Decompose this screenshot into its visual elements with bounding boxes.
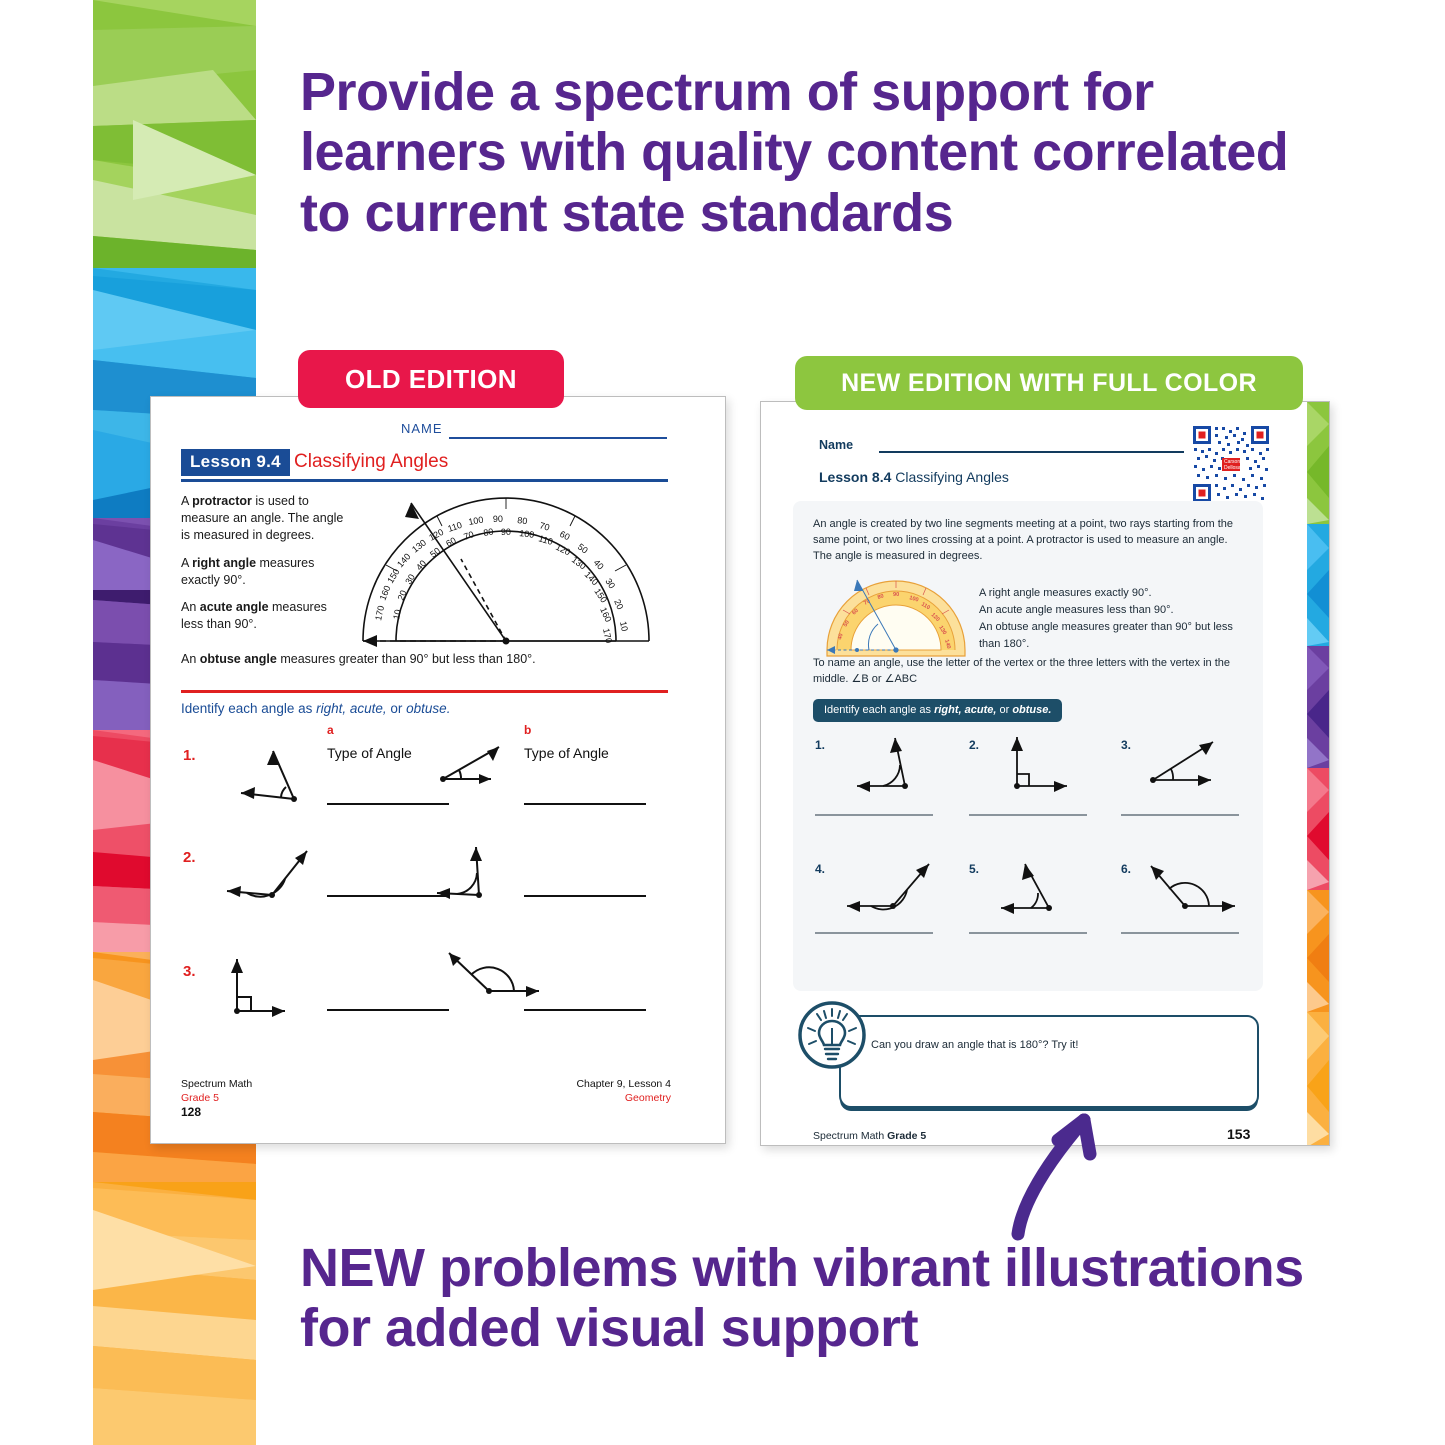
- new-rules-list: A right angle measures exactly 90°. An a…: [979, 585, 1249, 653]
- new-lesson-heading: Lesson 8.4 Classifying Angles: [819, 469, 1009, 485]
- headline-top: Provide a spectrum of support for learne…: [300, 62, 1300, 243]
- svg-text:150: 150: [385, 567, 401, 585]
- svg-text:170: 170: [373, 605, 386, 622]
- new-problem-number-2: 2.: [969, 738, 979, 752]
- new-lesson-title: Classifying Angles: [895, 469, 1009, 485]
- new-angle-figure-5: [993, 854, 1103, 926]
- old-body-p1: A protractor is used to measure an angle…: [181, 493, 347, 544]
- old-instruction: Identify each angle as right, acute, or …: [181, 701, 450, 716]
- old-angle-figure-2b: [429, 839, 519, 911]
- old-body-p3: An acute angle measures less than 90°.: [181, 599, 347, 633]
- headline-bottom: NEW problems with vibrant illustrations …: [300, 1238, 1310, 1359]
- svg-text:30: 30: [603, 577, 617, 591]
- old-answer-line-2b[interactable]: [524, 895, 646, 897]
- old-problem-number-2: 2.: [183, 849, 196, 866]
- old-answer-line-3a[interactable]: [327, 1009, 449, 1011]
- svg-text:100: 100: [468, 515, 485, 527]
- new-problem-number-6: 6.: [1121, 862, 1131, 876]
- svg-text:80: 80: [483, 526, 495, 538]
- new-answer-line-4[interactable]: [815, 932, 933, 934]
- old-answer-line-3b[interactable]: [524, 1009, 646, 1011]
- svg-text:70: 70: [538, 520, 550, 532]
- svg-text:100: 100: [519, 528, 535, 540]
- new-instruction-banner: Identify each angle as right, acute, or …: [813, 699, 1062, 722]
- new-edge-graphic: [1307, 402, 1329, 1145]
- new-answer-line-1[interactable]: [815, 814, 933, 816]
- old-angle-figure-2a: [219, 841, 319, 911]
- svg-text:40: 40: [414, 558, 428, 572]
- qr-code-icon[interactable]: CarsonDellosa: [1191, 424, 1271, 504]
- new-protractor-illustration: 90 80 100 70 110 60 120 50 130 40 140: [821, 572, 971, 660]
- new-name-label: Name: [819, 438, 853, 452]
- old-protractor-illustration: 170 160 150 140 130 120 110 100 90 80 70…: [341, 489, 671, 674]
- svg-text:20: 20: [396, 589, 409, 602]
- old-answer-line-1b[interactable]: [524, 803, 646, 805]
- svg-text:10: 10: [391, 609, 403, 621]
- new-edition-worksheet: Name Lesson 8.4 Classifying Angles: [760, 401, 1330, 1146]
- svg-text:60: 60: [444, 535, 458, 549]
- svg-text:130: 130: [410, 537, 428, 554]
- svg-text:60: 60: [558, 529, 571, 542]
- new-problem-number-3: 3.: [1121, 738, 1131, 752]
- old-problem-number-3: 3.: [183, 963, 196, 980]
- old-lesson-tag: Lesson 9.4: [181, 449, 290, 476]
- new-problem-number-5: 5.: [969, 862, 979, 876]
- new-page-color-edge: [1307, 402, 1329, 1145]
- badge-new-edition: NEW EDITION WITH FULL COLOR: [795, 356, 1303, 410]
- old-angle-figure-3a: [219, 949, 309, 1029]
- old-angle-figure-3b: [441, 945, 551, 1015]
- old-header-rule: [181, 479, 668, 482]
- old-column-a-label: a: [327, 723, 334, 737]
- old-page-number: 128: [181, 1105, 201, 1119]
- new-answer-line-2[interactable]: [969, 814, 1087, 816]
- old-answer-line-1a[interactable]: [327, 803, 449, 805]
- old-name-label: NAME: [401, 421, 443, 436]
- new-angle-figure-3: [1141, 732, 1241, 802]
- old-type-of-angle-1b: Type of Angle: [524, 745, 609, 761]
- new-naming-text: To name an angle, use the letter of the …: [813, 656, 1245, 688]
- svg-text:90: 90: [893, 592, 899, 598]
- new-rule-right: A right angle measures exactly 90°.: [979, 585, 1249, 602]
- old-column-b-label: b: [524, 723, 531, 737]
- old-footer-chapter: Chapter 9, Lesson 4: [531, 1077, 671, 1091]
- old-footer-right: Chapter 9, Lesson 4 Geometry: [531, 1077, 671, 1105]
- svg-text:40: 40: [592, 557, 606, 571]
- new-answer-line-3[interactable]: [1121, 814, 1239, 816]
- old-name-line: [449, 437, 667, 439]
- svg-text:130: 130: [570, 555, 588, 572]
- svg-text:110: 110: [537, 533, 554, 547]
- old-type-of-angle-1a: Type of Angle: [327, 745, 412, 761]
- svg-text:160: 160: [378, 584, 393, 602]
- svg-text:110: 110: [446, 520, 463, 534]
- old-angle-figure-1b: [429, 737, 519, 797]
- svg-text:10: 10: [618, 620, 630, 632]
- old-problem-number-1: 1.: [183, 747, 196, 764]
- old-body-p2: A right angle measures exactly 90°.: [181, 555, 347, 589]
- svg-text:Dellosa: Dellosa: [1224, 465, 1241, 471]
- new-lesson-tag: Lesson 8.4: [819, 469, 891, 485]
- svg-text:150: 150: [592, 587, 609, 605]
- svg-text:120: 120: [554, 542, 572, 558]
- svg-text:90: 90: [501, 527, 511, 537]
- new-answer-line-5[interactable]: [969, 932, 1087, 934]
- new-problem-number-1: 1.: [815, 738, 825, 752]
- svg-text:70: 70: [462, 529, 475, 542]
- badge-old-edition: OLD EDITION: [298, 350, 564, 408]
- old-body-text: A protractor is used to measure an angle…: [181, 493, 347, 644]
- svg-text:20: 20: [612, 598, 625, 611]
- svg-text:50: 50: [576, 542, 590, 556]
- old-footer-brand: Spectrum Math: [181, 1077, 252, 1091]
- new-angle-figure-1: [847, 728, 947, 802]
- old-section-rule: [181, 690, 668, 693]
- old-angle-figure-1a: [231, 741, 321, 811]
- old-footer-left: Spectrum Math Grade 5: [181, 1077, 252, 1105]
- svg-text:80: 80: [517, 515, 528, 526]
- new-intro-text: An angle is created by two line segments…: [813, 517, 1245, 565]
- new-page-number: 153: [1227, 1126, 1250, 1142]
- new-angle-figure-4: [841, 854, 951, 926]
- new-answer-line-6[interactable]: [1121, 932, 1239, 934]
- lightbulb-icon: [797, 1000, 867, 1070]
- svg-text:30: 30: [403, 572, 417, 586]
- new-name-line: [879, 451, 1184, 453]
- new-angle-figure-2: [997, 728, 1097, 802]
- svg-text:90: 90: [493, 514, 503, 524]
- new-angle-figure-6: [1143, 854, 1253, 926]
- new-rule-acute: An acute angle measures less than 90°.: [979, 602, 1249, 619]
- old-footer-grade: Grade 5: [181, 1091, 252, 1105]
- new-problem-number-4: 4.: [815, 862, 825, 876]
- svg-text:140: 140: [583, 569, 601, 587]
- poster-canvas: Provide a spectrum of support for learne…: [0, 0, 1445, 1445]
- new-footer: Spectrum Math Grade 5: [813, 1130, 926, 1142]
- svg-text:50: 50: [428, 546, 442, 560]
- old-edition-worksheet: NAME Lesson 9.4 Classifying Angles A pro…: [150, 396, 726, 1144]
- new-rule-obtuse: An obtuse angle measures greater than 90…: [979, 619, 1249, 653]
- tip-text: Can you draw an angle that is 180°? Try …: [871, 1039, 1078, 1051]
- old-lesson-title: Classifying Angles: [294, 451, 448, 473]
- old-footer-topic: Geometry: [531, 1091, 671, 1105]
- svg-text:140: 140: [395, 551, 412, 569]
- curved-up-arrow-icon: [1000, 1086, 1130, 1241]
- new-footer-grade: Grade 5: [887, 1130, 926, 1142]
